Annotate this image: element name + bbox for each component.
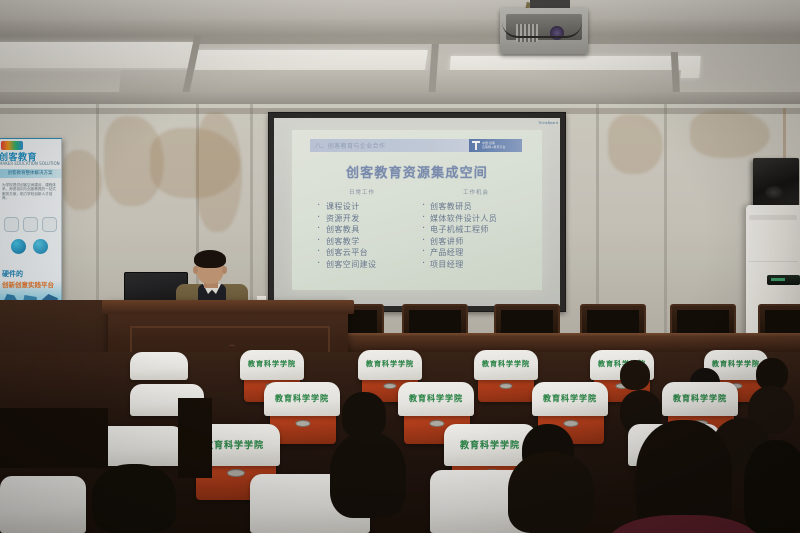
seat-cover: 教育科学学院 — [358, 350, 422, 380]
wall-speaker — [753, 158, 799, 208]
seat-cover-text: 教育科学学院 — [358, 359, 422, 369]
presenter-ear — [222, 266, 227, 274]
banner-icon-software — [23, 217, 38, 232]
seat-cover-text: 教育科学学院 — [240, 359, 304, 369]
wall-stain — [62, 150, 102, 210]
slide-logo-mark-icon — [472, 141, 480, 150]
seat-cover-text: 教育科学学院 — [398, 393, 474, 404]
seat-cover: 教育科学学院 — [474, 350, 538, 380]
audience-member-front — [636, 420, 732, 533]
seat-cover — [0, 476, 86, 533]
seat-cover-text: 教育科学学院 — [532, 393, 608, 404]
ac-led-indicator — [771, 278, 785, 281]
slide-bullet: 媒体软件设计人员 — [420, 213, 532, 225]
seat-cover: 教育科学学院 — [662, 382, 738, 416]
slide-logo: 中国·创客 互联网+教育平台 — [469, 139, 522, 152]
banner-headline-2: 创新创意实践平台 — [2, 279, 60, 289]
projection-screen: 八、创客教育与企业合作 中国·创客 互联网+教育平台 创客教育资源集成空间 日常… — [292, 130, 542, 290]
slide-bullet: 创客教研员 — [420, 201, 532, 213]
slide-bullet: 产品经理 — [420, 247, 532, 259]
column-heading: 工作机会 — [420, 188, 532, 196]
light-panel-left — [0, 42, 196, 68]
ceiling-beam-upper — [0, 20, 800, 36]
banner-ribbon: 创客教育整体解决方案 — [0, 169, 61, 178]
banner-icon-hardware — [4, 217, 19, 232]
seat-cover: 教育科学学院 — [264, 382, 340, 416]
slide-column-daily-work: 日常工作 课程设计 资源开发 创客教具 创客教学 创客云平台 创客空间建设 — [312, 188, 412, 270]
audience-member-front — [330, 432, 406, 518]
slide-bullet: 项目经理 — [420, 259, 532, 271]
lecture-hall-photo: 创客教育 MAKER EDUCATION SOLUTION 创客教育整体解决方案… — [0, 0, 800, 533]
ceiling-slab — [0, 0, 800, 20]
column-heading: 日常工作 — [312, 188, 412, 196]
speaker-cone-icon — [765, 186, 783, 199]
seat-cover — [130, 352, 188, 380]
banner-brand-sub: MAKER EDUCATION SOLUTION — [0, 161, 61, 166]
audience-member-front — [508, 452, 594, 533]
slide-bullet: 创客空间建设 — [312, 259, 412, 271]
seat-cover: 教育科学学院 — [398, 382, 474, 416]
ceiling-recess-panel — [119, 70, 681, 92]
seat-cover-text: 教育科学学院 — [474, 359, 538, 369]
wall-pipe — [783, 108, 786, 162]
seat-cover: 教育科学学院 — [240, 350, 304, 380]
slide-bullet: 课程设计 — [312, 201, 412, 213]
slide-logo-line2: 互联网+教育平台 — [482, 146, 506, 150]
ac-vent — [749, 215, 797, 220]
aisle-shadow — [0, 408, 108, 468]
slide-bullet: 创客教学 — [312, 236, 412, 248]
banner-circle-icon-1 — [11, 239, 26, 254]
aisle-shadow — [178, 398, 212, 478]
seat-cover — [96, 426, 184, 466]
wall-seam — [664, 104, 667, 354]
slide-bullet: 创客讲师 — [420, 236, 532, 248]
seat-cover-text: 教育科学学院 — [662, 393, 738, 404]
slide-bullet: 电子机械工程师 — [420, 224, 532, 236]
seat-cover: 教育科学学院 — [532, 382, 608, 416]
slide-title: 创客教育资源集成空间 — [292, 162, 542, 181]
banner-header: 创客教育 MAKER EDUCATION SOLUTION — [0, 139, 61, 173]
audience-member-front — [744, 440, 800, 533]
audience-member — [620, 360, 650, 390]
seat-cover-text: 教育科学学院 — [264, 393, 340, 404]
ac-display-panel[interactable] — [767, 275, 800, 285]
presenter-hair — [194, 250, 226, 268]
ac-seam — [748, 261, 798, 262]
banner-logo-icon — [1, 141, 23, 150]
audience-member-front — [92, 464, 176, 533]
wall-stain — [690, 110, 770, 158]
slide-bullet: 创客教具 — [312, 224, 412, 236]
slide-header-text: 八、创客教育与企业合作 — [315, 141, 385, 150]
banner-body-text: 为学校提供创客空间建设、课程体系、师资培训与创客教具的一站式服务方案，助力学校创… — [2, 183, 58, 201]
wall-stain — [608, 114, 663, 174]
slide-column-job-opportunities: 工作机会 创客教研员 媒体软件设计人员 电子机械工程师 创客讲师 产品经理 项目… — [420, 188, 532, 270]
banner-icon-course — [42, 217, 57, 232]
podium-top-surface — [102, 300, 354, 314]
ceiling — [0, 0, 800, 120]
slide-bullet: 资源开发 — [312, 213, 412, 225]
projector-cable — [502, 22, 582, 38]
banner-circle-icon-2 — [33, 239, 48, 254]
presenter-ear — [193, 266, 198, 274]
whiteboard-brand: ThinkBoard — [538, 121, 558, 125]
slide-header-bar: 八、创客教育与企业合作 中国·创客 互联网+教育平台 — [310, 139, 522, 152]
slide-bullet: 创客云平台 — [312, 247, 412, 259]
banner-headline-1: 硬件的 — [2, 269, 60, 279]
wall-stain — [196, 112, 242, 232]
